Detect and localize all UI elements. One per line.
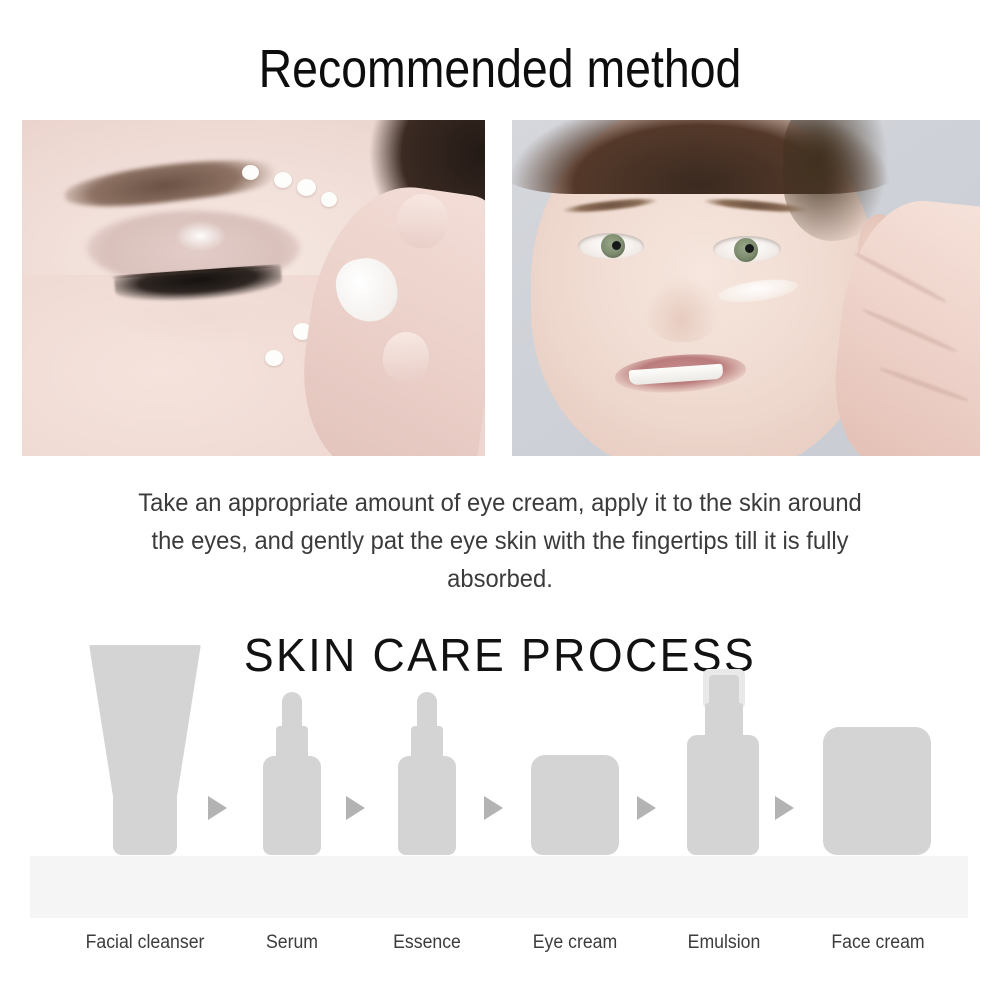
pump-bottle-icon: [687, 669, 759, 855]
product-face-cream[interactable]: [823, 727, 931, 855]
cream-dot: [321, 192, 337, 207]
process-label-eye-cream: Eye cream: [515, 932, 636, 954]
page-title: Recommended method: [70, 42, 930, 96]
tube-icon: [88, 645, 202, 855]
process-label-face-cream: Face cream: [817, 932, 940, 954]
under-eye-area: [115, 301, 300, 348]
arrow-right-icon: [484, 796, 503, 820]
cream-dot: [265, 350, 283, 366]
arrow-right-icon: [346, 796, 365, 820]
pupil-left: [612, 241, 621, 250]
product-emulsion[interactable]: [687, 669, 759, 855]
eyelid-highlight: [175, 221, 226, 251]
process-label-essence: Essence: [371, 932, 483, 954]
eye-photo-backdrop: [22, 120, 485, 456]
product-facial-cleanser[interactable]: [88, 645, 202, 855]
process-labels: Facial cleanser Serum Essence Eye cream …: [0, 932, 1000, 962]
nose: [643, 268, 723, 342]
small-jar-icon: [531, 755, 619, 855]
instruction-text: Take an appropriate amount of eye cream,…: [120, 484, 880, 598]
arrow-right-icon: [775, 796, 794, 820]
large-jar-icon: [823, 727, 931, 855]
skin-care-process-row: [0, 660, 1000, 960]
face-photo-backdrop: [512, 120, 980, 456]
photo-row: [22, 120, 980, 456]
process-label-serum: Serum: [236, 932, 348, 954]
infographic-page: Recommended method: [0, 0, 1000, 1000]
eye-cream-application-closeup-photo: [22, 120, 485, 456]
product-eye-cream[interactable]: [531, 755, 619, 855]
dropper-bottle-icon: [398, 692, 456, 855]
process-label-facial-cleanser: Facial cleanser: [61, 932, 228, 954]
arrow-right-icon: [208, 796, 227, 820]
dropper-bottle-icon: [263, 692, 321, 855]
woman-applying-eye-cream-photo: [512, 120, 980, 456]
product-essence[interactable]: [398, 692, 456, 855]
product-serum[interactable]: [263, 692, 321, 855]
arrow-right-icon: [637, 796, 656, 820]
process-label-emulsion: Emulsion: [667, 932, 780, 954]
